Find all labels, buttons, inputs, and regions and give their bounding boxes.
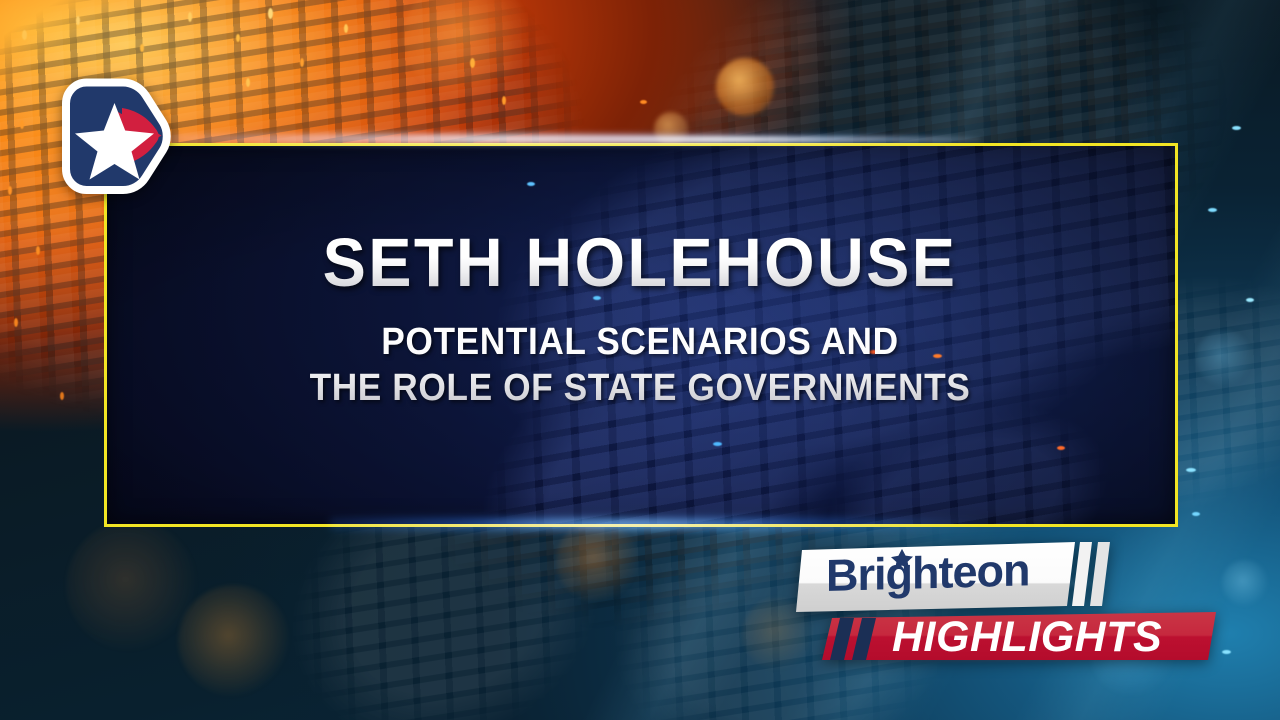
frame-bottom-light-streak: [330, 517, 1030, 531]
spark-particle: [470, 58, 475, 68]
topic-subtitle: POTENTIAL SCENARIOS AND THE ROLE OF STAT…: [45, 319, 1235, 412]
spark-particle: [268, 8, 273, 19]
bokeh-orb: [556, 520, 638, 602]
bokeh-orb: [1222, 560, 1268, 606]
spark-particle: [713, 442, 722, 446]
spark-particle: [1232, 126, 1241, 130]
spark-particle: [188, 12, 192, 22]
spark-particle: [640, 100, 647, 104]
brighteon-wordmark-text: Brighteon: [826, 544, 1029, 601]
frame-top-light-core: [420, 136, 980, 143]
guest-name-title: SETH HOLEHOUSE: [38, 228, 1241, 297]
spark-particle: [1208, 208, 1217, 212]
brighteon-wordmark: Brighteon: [826, 544, 1029, 601]
topic-subtitle-line-2: THE ROLE OF STATE GOVERNMENTS: [45, 365, 1235, 411]
topic-subtitle-line-1: POTENTIAL SCENARIOS AND: [45, 319, 1235, 365]
spark-particle: [8, 186, 12, 195]
spark-particle: [300, 58, 304, 67]
highlights-label: HIGHLIGHTS: [892, 613, 1162, 660]
spark-particle: [1186, 468, 1196, 472]
spark-particle: [22, 30, 27, 40]
spark-particle: [1057, 446, 1065, 450]
title-text-block: SETH HOLEHOUSE POTENTIAL SCENARIOS AND T…: [0, 228, 1280, 412]
bokeh-orb: [178, 585, 290, 697]
spark-particle: [1222, 650, 1231, 654]
brighteon-highlights-badge[interactable]: Brighteon HIGHLIGHTS: [796, 534, 1216, 660]
bokeh-orb: [716, 58, 774, 116]
lower-third-title-card: SETH HOLEHOUSE POTENTIAL SCENARIOS AND T…: [0, 0, 1280, 720]
spark-particle: [502, 96, 506, 105]
spark-particle: [236, 34, 240, 42]
spark-particle: [344, 24, 348, 33]
spark-particle: [76, 16, 80, 25]
brighteon-play-star-logo[interactable]: [62, 76, 174, 198]
spark-particle: [527, 182, 535, 186]
spark-particle: [1192, 512, 1200, 516]
spark-particle: [140, 44, 144, 52]
spark-particle: [20, 120, 24, 129]
spark-particle: [246, 78, 250, 87]
